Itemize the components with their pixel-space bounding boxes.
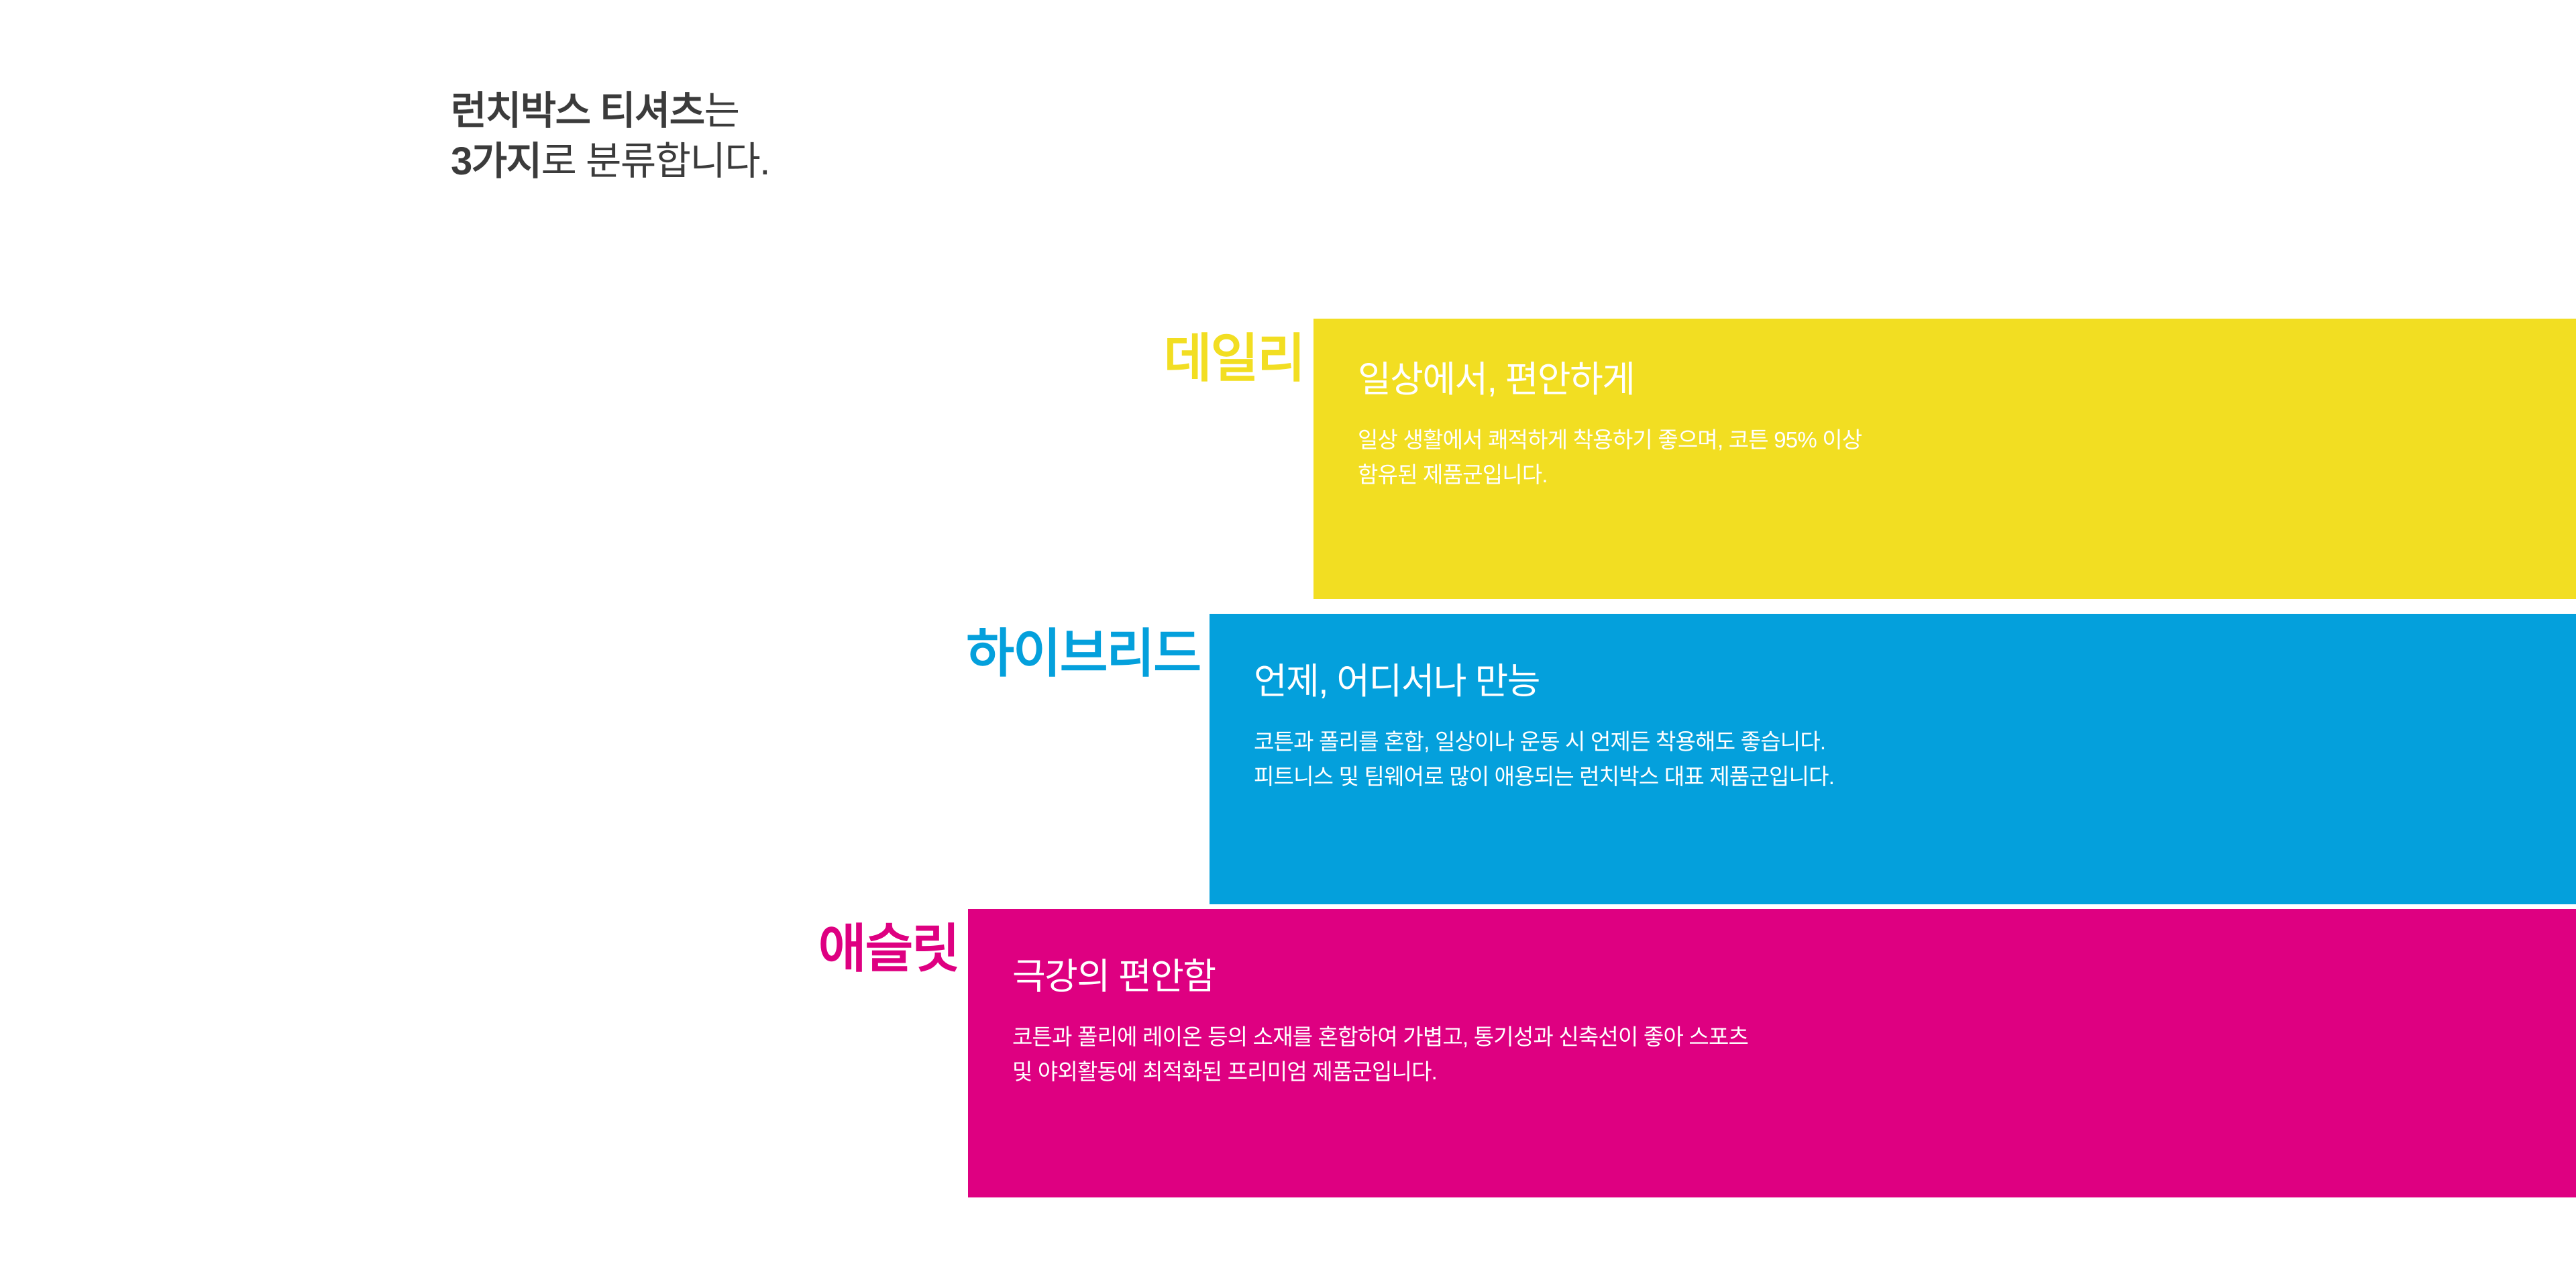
page-title: 런치박스 티셔츠는 3가지로 분류합니다.: [451, 86, 769, 187]
category-description-athlete-line-2: 및 야외활동에 최적화된 프리미엄 제품군입니다.: [1012, 1055, 1748, 1089]
category-body-hybrid: 언제, 어디서나 만능 코튼과 폴리를 혼합, 일상이나 운동 시 언제든 착용…: [1210, 614, 1834, 794]
page-title-line-1: 런치박스 티셔츠는: [451, 86, 769, 136]
page-title-line-2-light: 로 분류합니다.: [541, 140, 769, 183]
page-title-line-2: 3가지로 분류합니다.: [451, 136, 769, 186]
page-title-line-1-light: 는: [704, 89, 739, 133]
category-description-hybrid-line-2: 피트니스 및 팀웨어로 많이 애용되는 런치박스 대표 제품군입니다.: [1254, 759, 1834, 794]
category-title-athlete: 극강의 편안함: [1012, 957, 1748, 997]
category-description-athlete-line-1: 코튼과 폴리에 레이온 등의 소재를 혼합하여 가볍고, 통기성과 신축선이 좋…: [1012, 1020, 1748, 1054]
category-label-hybrid: 하이브리드: [966, 627, 1210, 680]
category-title-hybrid: 언제, 어디서나 만능: [1254, 662, 1834, 702]
category-description-daily: 일상 생활에서 쾌적하게 착용하기 좋으며, 코튼 95% 이상 함유된 제품군…: [1358, 423, 1862, 491]
category-description-daily-line-1: 일상 생활에서 쾌적하게 착용하기 좋으며, 코튼 95% 이상: [1358, 423, 1862, 457]
category-description-hybrid: 코튼과 폴리를 혼합, 일상이나 운동 시 언제든 착용해도 좋습니다. 피트니…: [1254, 724, 1834, 793]
category-label-athlete: 애슬릿: [818, 922, 968, 975]
category-body-athlete: 극강의 편안함 코튼과 폴리에 레이온 등의 소재를 혼합하여 가볍고, 통기성…: [968, 909, 1748, 1089]
page-title-line-1-strong: 런치박스 티셔츠: [451, 89, 704, 133]
category-band-athlete: 애슬릿 극강의 편안함 코튼과 폴리에 레이온 등의 소재를 혼합하여 가볍고,…: [968, 909, 2576, 1197]
category-label-daily: 데일리: [1164, 332, 1313, 384]
category-description-athlete: 코튼과 폴리에 레이온 등의 소재를 혼합하여 가볍고, 통기성과 신축선이 좋…: [1012, 1020, 1748, 1088]
page-title-line-2-strong: 3가지: [451, 140, 541, 183]
category-band-daily: 데일리 일상에서, 편안하게 일상 생활에서 쾌적하게 착용하기 좋으며, 코튼…: [1313, 319, 2576, 599]
category-description-hybrid-line-1: 코튼과 폴리를 혼합, 일상이나 운동 시 언제든 착용해도 좋습니다.: [1254, 724, 1834, 759]
page-canvas: 런치박스 티셔츠는 3가지로 분류합니다. 데일리 일상에서, 편안하게 일상 …: [0, 0, 2576, 1288]
category-description-daily-line-2: 함유된 제품군입니다.: [1358, 458, 1862, 492]
category-band-hybrid: 하이브리드 언제, 어디서나 만능 코튼과 폴리를 혼합, 일상이나 운동 시 …: [1210, 614, 2576, 904]
category-body-daily: 일상에서, 편안하게 일상 생활에서 쾌적하게 착용하기 좋으며, 코튼 95%…: [1313, 319, 1862, 492]
category-title-daily: 일상에서, 편안하게: [1358, 360, 1862, 400]
